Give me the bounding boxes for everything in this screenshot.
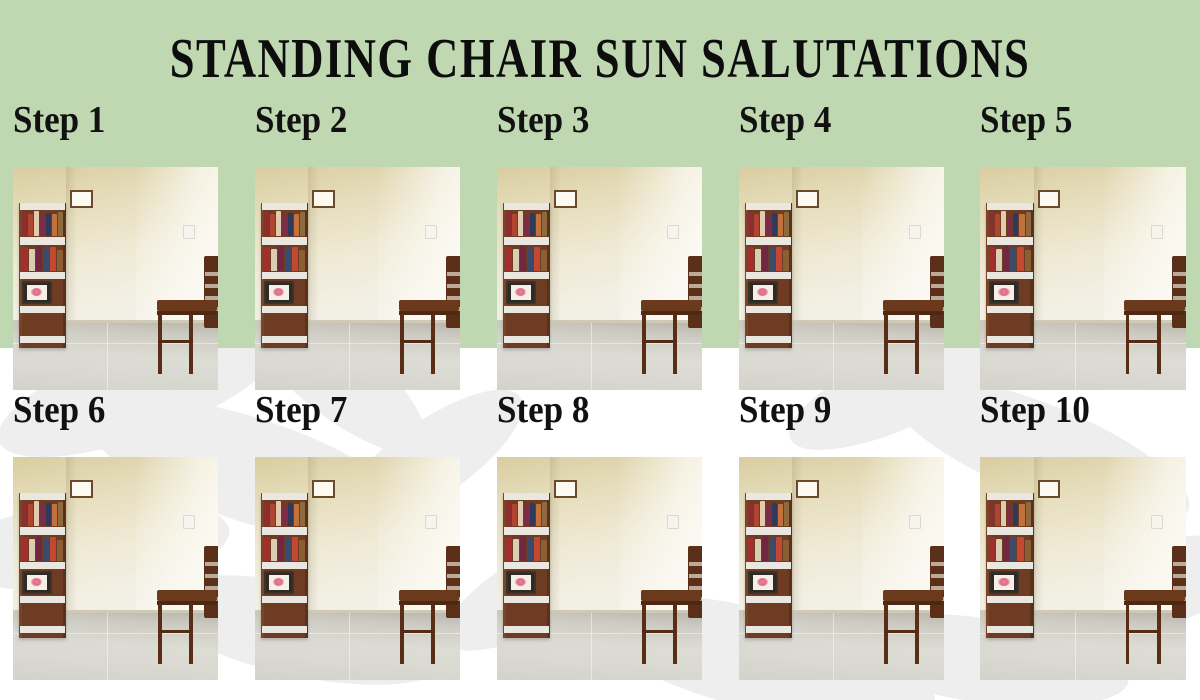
step-card-8: Step 8 (497, 390, 702, 680)
step-photo-6 (13, 457, 218, 680)
step-photo-7 (255, 457, 460, 680)
step-card-1: Step 1 (13, 100, 218, 390)
step-photo-10 (980, 457, 1186, 680)
step-card-10: Step 10 (980, 390, 1186, 680)
step-label: Step 2 (255, 100, 347, 139)
step-card-4: Step 4 (739, 100, 944, 390)
step-photo-8 (497, 457, 702, 680)
step-label: Step 3 (497, 100, 589, 139)
step-photo-2 (255, 167, 460, 390)
step-label: Step 6 (13, 390, 105, 429)
infographic-poster: STANDING CHAIR SUN SALUTATIONS Step 1 (0, 0, 1200, 700)
step-label: Step 4 (739, 100, 831, 139)
step-label: Step 5 (980, 100, 1072, 139)
step-photo-9 (739, 457, 944, 680)
step-label: Step 7 (255, 390, 347, 429)
step-card-9: Step 9 (739, 390, 944, 680)
step-photo-5 (980, 167, 1186, 390)
step-card-6: Step 6 (13, 390, 218, 680)
steps-row-top: Step 1 (0, 100, 1200, 390)
step-photo-3 (497, 167, 702, 390)
step-label: Step 10 (980, 390, 1090, 429)
page-title: STANDING CHAIR SUN SALUTATIONS (18, 26, 1182, 91)
step-label: Step 1 (13, 100, 105, 139)
step-card-7: Step 7 (255, 390, 460, 680)
steps-row-bottom: Step 6 (0, 390, 1200, 680)
step-photo-4 (739, 167, 944, 390)
step-card-5: Step 5 (980, 100, 1186, 390)
step-card-3: Step 3 (497, 100, 702, 390)
step-label: Step 8 (497, 390, 589, 429)
step-card-2: Step 2 (255, 100, 460, 390)
step-photo-1 (13, 167, 218, 390)
step-label: Step 9 (739, 390, 831, 429)
